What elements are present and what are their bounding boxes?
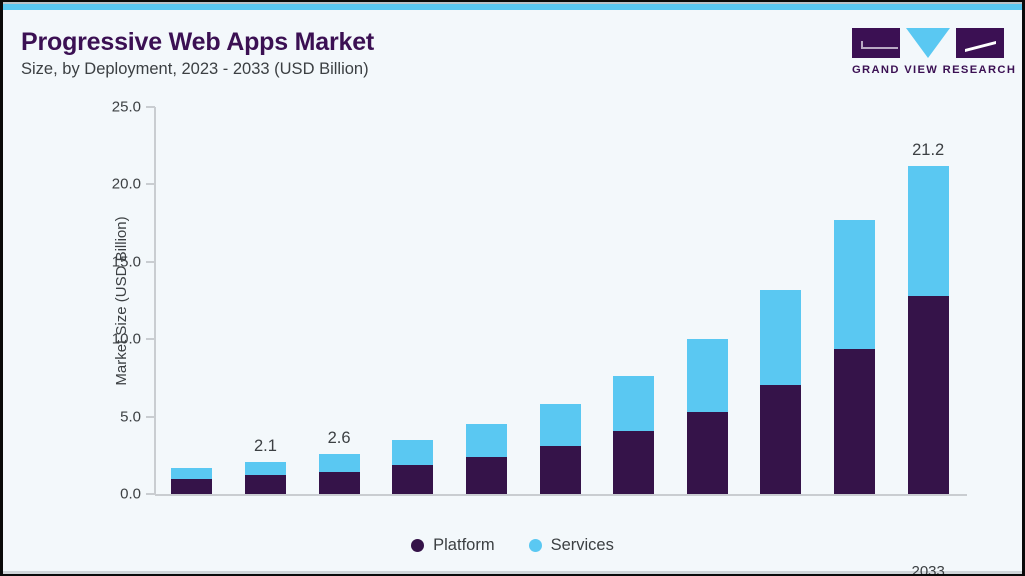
- y-tick-label: 5.0: [120, 408, 141, 425]
- bar-group[interactable]: 2032: [834, 220, 875, 494]
- bar-group[interactable]: 21.22033: [908, 166, 949, 494]
- chart-card: Progressive Web Apps Market Size, by Dep…: [3, 2, 1022, 574]
- legend-swatch-icon: [411, 539, 424, 552]
- logo-wordmark: GRAND VIEW RESEARCH: [852, 64, 1004, 76]
- bar-group[interactable]: 2031: [760, 290, 801, 494]
- bar-segment-services[interactable]: [687, 339, 728, 412]
- y-tick-mark: [146, 183, 155, 185]
- legend-label: Services: [551, 536, 614, 555]
- bar-segment-platform[interactable]: [613, 431, 654, 494]
- bar-segment-platform[interactable]: [760, 385, 801, 494]
- y-tick-mark: [146, 261, 155, 263]
- bar-segment-services[interactable]: [613, 376, 654, 431]
- bar-group[interactable]: 2027: [466, 424, 507, 494]
- y-tick-label: 0.0: [120, 486, 141, 503]
- bar-segment-platform[interactable]: [466, 457, 507, 494]
- bar-value-label: 2.6: [328, 429, 351, 448]
- y-tick-label: 15.0: [112, 253, 141, 270]
- page-subtitle: Size, by Deployment, 2023 - 2033 (USD Bi…: [21, 60, 369, 79]
- bar-segment-services[interactable]: [908, 166, 949, 296]
- logo-slash-glyph: [956, 28, 1004, 58]
- bar-group[interactable]: 2.12024: [245, 462, 286, 495]
- bar-segment-platform[interactable]: [171, 479, 212, 494]
- chart-legend: PlatformServices: [3, 536, 1022, 555]
- logo-bracket-horizontal: [861, 47, 898, 49]
- y-tick-mark: [146, 338, 155, 340]
- y-tick-label: 20.0: [112, 176, 141, 193]
- bar-segment-platform[interactable]: [540, 446, 581, 494]
- bar-segment-services[interactable]: [392, 440, 433, 465]
- plot-area: Market Size (USD Billion) 0.05.010.015.0…: [155, 107, 965, 494]
- bar-segment-services[interactable]: [466, 424, 507, 457]
- card-accent-bar: [3, 4, 1022, 10]
- bar-value-label: 21.2: [912, 141, 944, 160]
- y-tick-mark: [146, 106, 155, 108]
- bar-group[interactable]: 2030: [687, 339, 728, 494]
- bar-group[interactable]: 2026: [392, 440, 433, 494]
- x-axis-line: [155, 494, 967, 496]
- bar-segment-services[interactable]: [171, 468, 212, 480]
- legend-label: Platform: [433, 536, 494, 555]
- bar-segment-platform[interactable]: [319, 472, 360, 494]
- logo-slash-icon: [956, 28, 1004, 58]
- logo-bracket-icon: [852, 28, 900, 58]
- y-tick-label: 10.0: [112, 331, 141, 348]
- bar-group[interactable]: 2028: [540, 404, 581, 494]
- logo-triangle-icon: [906, 28, 950, 58]
- bar-segment-services[interactable]: [760, 290, 801, 385]
- bar-group[interactable]: 2023: [171, 468, 212, 494]
- bar-value-label: 2.1: [254, 437, 277, 456]
- brand-logo: GRAND VIEW RESEARCH: [852, 28, 1004, 76]
- bar-segment-services[interactable]: [319, 454, 360, 472]
- legend-swatch-icon: [529, 539, 542, 552]
- y-tick-mark: [146, 416, 155, 418]
- card-bottom-rule: [3, 571, 1022, 574]
- legend-item[interactable]: Services: [529, 536, 614, 555]
- bar-group[interactable]: 2029: [613, 376, 654, 494]
- legend-item[interactable]: Platform: [411, 536, 494, 555]
- y-tick-label: 25.0: [112, 99, 141, 116]
- logo-bracket-vertical: [861, 41, 863, 48]
- bar-segment-platform[interactable]: [834, 349, 875, 495]
- y-axis-title: Market Size (USD Billion): [113, 216, 130, 385]
- logo-marks: [852, 28, 1004, 58]
- bar-segment-platform[interactable]: [908, 296, 949, 494]
- bar-segment-services[interactable]: [245, 462, 286, 476]
- bar-segment-platform[interactable]: [687, 412, 728, 494]
- bar-segment-platform[interactable]: [245, 475, 286, 494]
- x-tick-label: 2033: [911, 563, 944, 574]
- bar-group[interactable]: 2.62025: [319, 454, 360, 494]
- bar-segment-services[interactable]: [540, 404, 581, 446]
- page-title: Progressive Web Apps Market: [21, 28, 374, 57]
- y-tick-mark: [146, 493, 155, 495]
- bar-segment-platform[interactable]: [392, 465, 433, 494]
- y-axis-line: [154, 107, 156, 495]
- bar-segment-services[interactable]: [834, 220, 875, 348]
